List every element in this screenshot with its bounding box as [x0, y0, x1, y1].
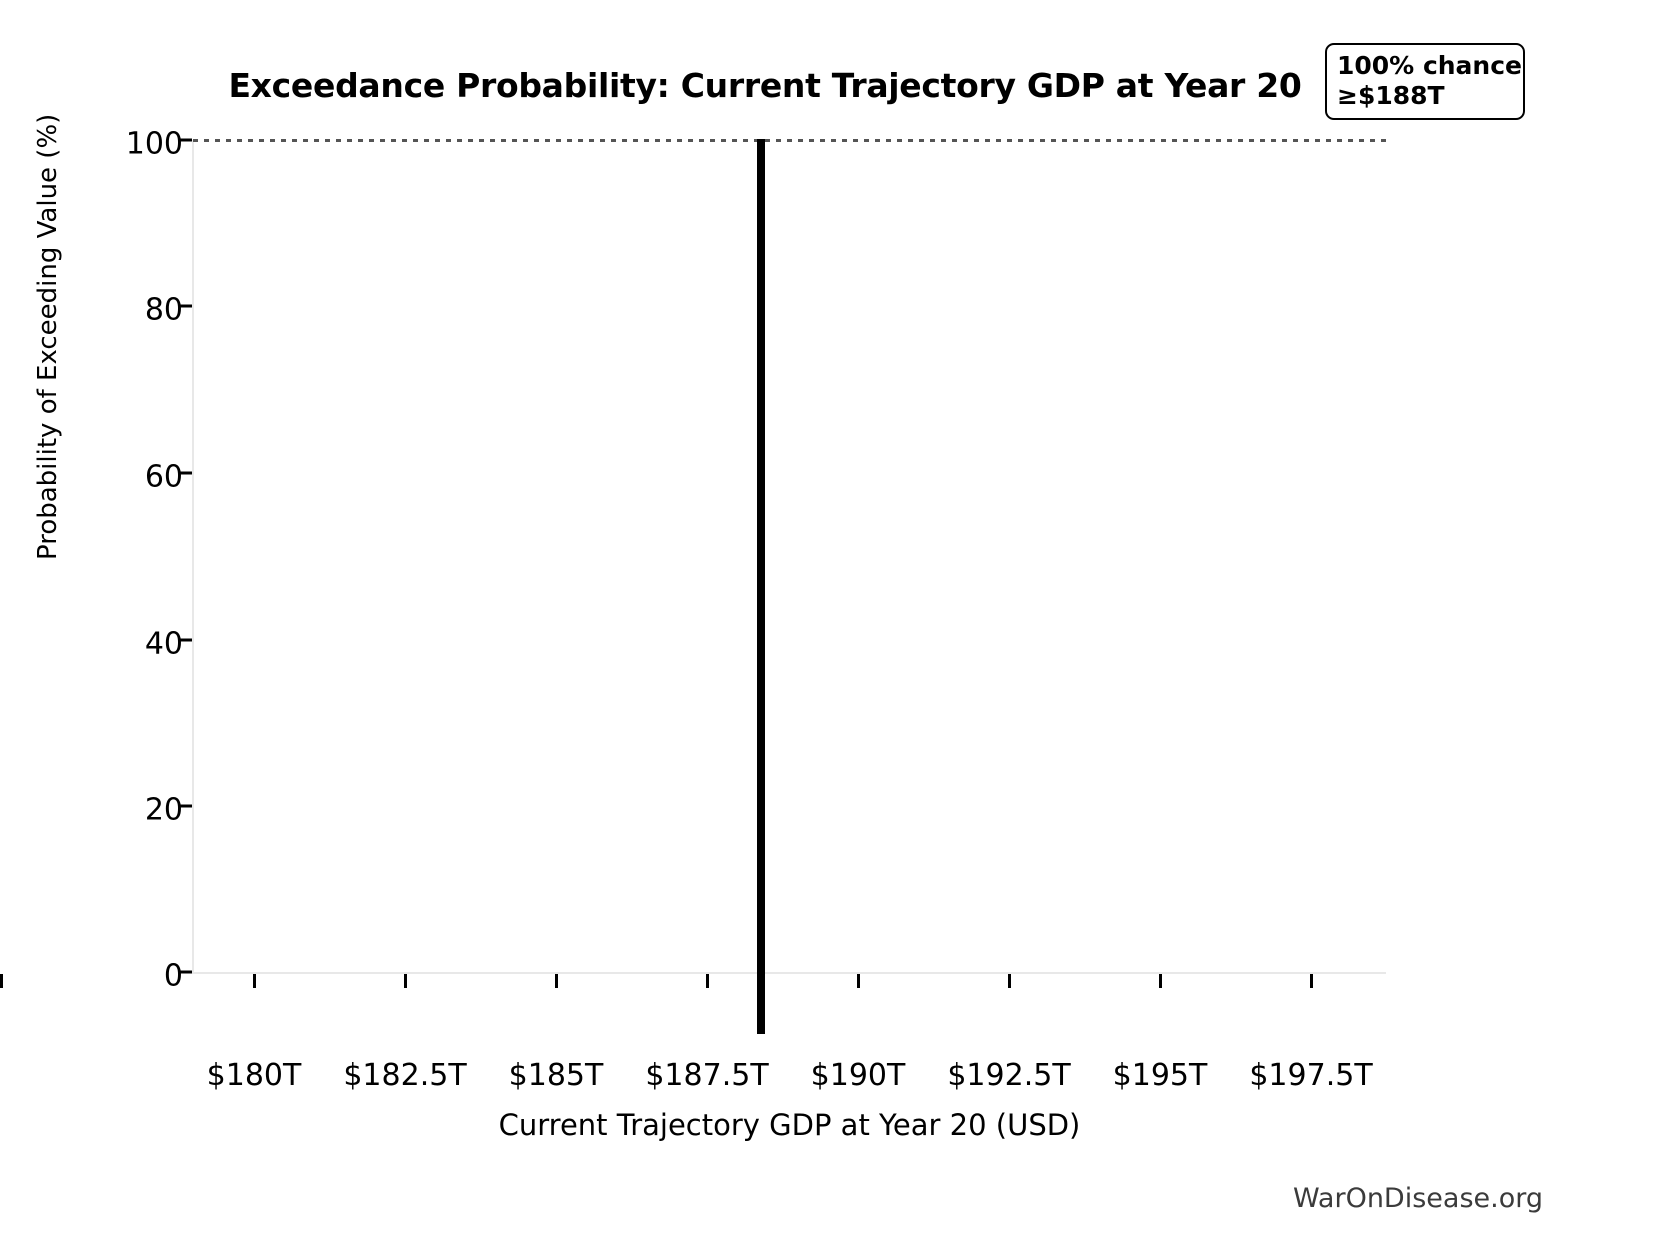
watermark: WarOnDisease.org — [1293, 1183, 1543, 1214]
page-title: Exceedance Probability: Current Trajecto… — [0, 66, 1530, 105]
y-axis-label: Probability of Exceeding Value (%) — [33, 114, 63, 560]
x-tick-mark-182_5 — [404, 974, 407, 988]
callout-line-1: 100% chance — [1337, 51, 1513, 81]
y-tick-label-40: 40 — [63, 627, 183, 662]
x-tick-label-197_5: $197.5T — [1201, 1058, 1421, 1093]
y-tick-label-100: 100 — [63, 127, 183, 162]
y-tick-label-20: 20 — [63, 793, 183, 828]
y-tick-label-80: 80 — [63, 293, 183, 328]
x-tick-mark-192_5 — [1008, 974, 1011, 988]
y-tick-label-60: 60 — [63, 460, 183, 495]
exceedance-callout: 100% chance ≥$188T — [1325, 43, 1525, 120]
x-axis-spine — [193, 972, 1386, 974]
x-tick-mark-185 — [555, 974, 558, 988]
plot-area — [193, 140, 1386, 973]
y-axis-spine — [192, 140, 194, 974]
x-tick-mark-197_5 — [1310, 974, 1313, 988]
x-axis-label: Current Trajectory GDP at Year 20 (USD) — [193, 1108, 1386, 1142]
chart-figure: Exceedance Probability: Current Trajecto… — [0, 0, 1673, 1259]
x-tick-mark-180 — [253, 974, 256, 988]
reference-line-current-value — [757, 139, 765, 1034]
y-tick-label-0: 0 — [63, 959, 183, 994]
x-tick-mark-187_5 — [706, 974, 709, 988]
exceedance-curve — [193, 139, 1386, 142]
x-tick-mark-190 — [857, 974, 860, 988]
x-tick-mark-195 — [1159, 974, 1162, 988]
callout-line-2: ≥$188T — [1337, 81, 1513, 111]
